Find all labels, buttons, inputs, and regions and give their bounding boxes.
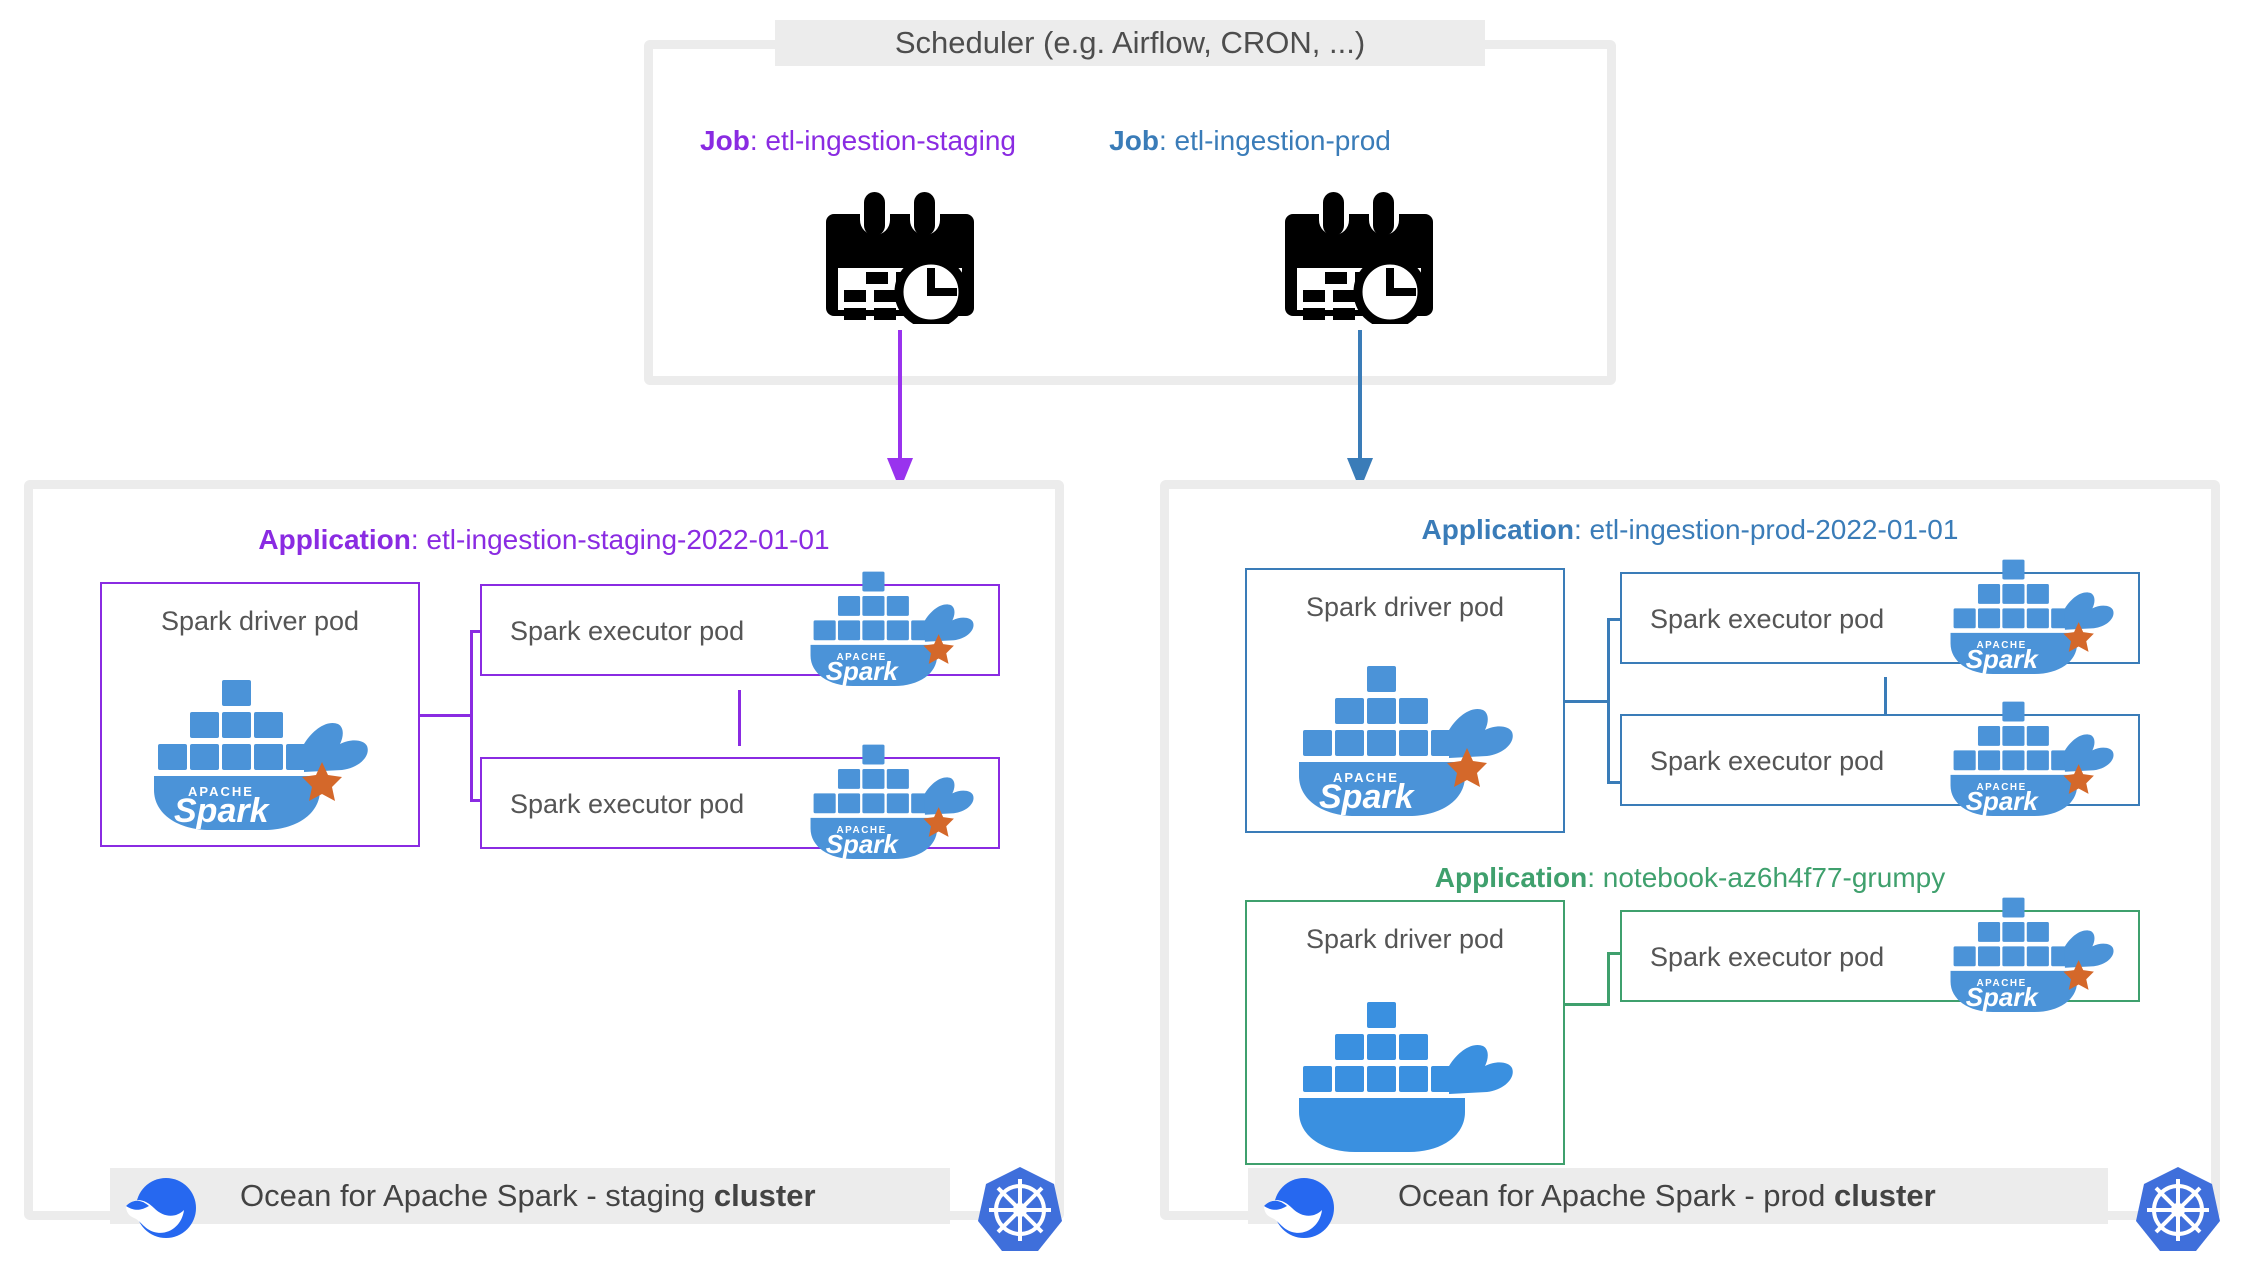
cluster-footer-pre: Ocean for Apache Spark - prod [1398, 1178, 1834, 1213]
pod-label: Spark driver pod [102, 606, 418, 637]
job-title-prod: Job: etl-ingestion-prod [1040, 125, 1460, 157]
application-key: Application [1422, 514, 1574, 545]
job-key: Job [700, 125, 750, 156]
application-value: etl-ingestion-prod-2022-01-01 [1590, 514, 1959, 545]
application-key: Application [1435, 862, 1587, 893]
pod-executor[interactable]: Spark executor pod APACHE Spark [1620, 572, 2140, 664]
connector-driver-executors [1562, 1003, 1610, 1006]
pod-executor[interactable]: Spark executor pod APACHE Spark [1620, 714, 2140, 806]
pod-label: Spark executor pod [510, 616, 744, 647]
connector-driver-executors [413, 714, 473, 717]
job-sep: : [750, 125, 766, 156]
application-value: etl-ingestion-staging-2022-01-01 [426, 524, 829, 555]
pod-label: Spark executor pod [1650, 604, 1884, 635]
svg-text:Spark: Spark [1966, 646, 2040, 674]
arrow-staging [880, 330, 920, 490]
spot-ocean-icon [124, 1172, 196, 1244]
connector-vertical [470, 630, 473, 802]
application-sep: : [1587, 862, 1603, 893]
docker-plain-icon [1299, 992, 1514, 1152]
calendar-clock-icon [1285, 192, 1433, 324]
svg-text:Spark: Spark [826, 658, 900, 686]
svg-text:Spark: Spark [174, 792, 271, 830]
svg-text:Spark: Spark [1319, 778, 1416, 816]
pod-driver[interactable]: Spark driver pod APACHE Spark [100, 582, 420, 847]
connector-executor-bridge [738, 690, 741, 746]
job-value: etl-ingestion-prod [1175, 125, 1391, 156]
cluster-footer-staging: Ocean for Apache Spark - staging cluster [110, 1168, 950, 1224]
kubernetes-icon [2136, 1165, 2220, 1253]
svg-text:Spark: Spark [1966, 984, 2040, 1012]
application-title-staging-etl: Application: etl-ingestion-staging-2022-… [24, 524, 1064, 556]
job-sep: : [1159, 125, 1175, 156]
docker-spark-icon: APACHE Spark [154, 670, 369, 830]
pod-label: Spark executor pod [1650, 942, 1884, 973]
docker-spark-icon: APACHE Spark [1950, 890, 2115, 1012]
pod-executor[interactable]: Spark executor pod APACHE Spark [1620, 910, 2140, 1002]
svg-text:Spark: Spark [826, 831, 900, 859]
cluster-footer-bold: cluster [1834, 1178, 1936, 1213]
job-value: etl-ingestion-staging [765, 125, 1016, 156]
docker-spark-icon: APACHE Spark [810, 737, 975, 859]
docker-spark-icon: APACHE Spark [1299, 656, 1514, 816]
pod-label: Spark executor pod [1650, 746, 1884, 777]
application-key: Application [258, 524, 410, 555]
docker-spark-icon: APACHE Spark [810, 564, 975, 686]
svg-text:Spark: Spark [1966, 788, 2040, 816]
arrow-prod [1340, 330, 1380, 490]
pod-executor[interactable]: Spark executor pod APACHE Spark [480, 584, 1000, 676]
application-title-prod-etl: Application: etl-ingestion-prod-2022-01-… [1160, 514, 2220, 546]
calendar-clock-icon [826, 192, 974, 324]
connector-driver-executors [1562, 700, 1610, 703]
job-title-staging: Job: etl-ingestion-staging [648, 125, 1068, 157]
cluster-footer-label: Ocean for Apache Spark - prod cluster [1398, 1178, 1936, 1214]
kubernetes-icon [978, 1165, 1062, 1253]
pod-executor[interactable]: Spark executor pod APACHE Spark [480, 757, 1000, 849]
cluster-footer-label: Ocean for Apache Spark - staging cluster [240, 1178, 816, 1214]
scheduler-box [644, 40, 1616, 385]
pod-driver[interactable]: Spark driver pod APACHE Spark [1245, 568, 1565, 833]
connector-vertical [1607, 618, 1610, 784]
cluster-footer-prod: Ocean for Apache Spark - prod cluster [1248, 1168, 2108, 1224]
application-value: notebook-az6h4f77-grumpy [1603, 862, 1945, 893]
pod-label: Spark driver pod [1247, 924, 1563, 955]
cluster-footer-bold: cluster [714, 1178, 816, 1213]
docker-spark-icon: APACHE Spark [1950, 694, 2115, 816]
job-key: Job [1109, 125, 1159, 156]
pod-driver[interactable]: Spark driver pod [1245, 900, 1565, 1165]
docker-spark-icon: APACHE Spark [1950, 552, 2115, 674]
cluster-footer-pre: Ocean for Apache Spark - staging [240, 1178, 714, 1213]
pod-label: Spark driver pod [1247, 592, 1563, 623]
spot-ocean-icon [1262, 1172, 1334, 1244]
application-sep: : [1574, 514, 1590, 545]
connector-vertical [1607, 952, 1610, 1006]
application-sep: : [411, 524, 427, 555]
pod-label: Spark executor pod [510, 789, 744, 820]
scheduler-title: Scheduler (e.g. Airflow, CRON, ...) [775, 20, 1485, 66]
